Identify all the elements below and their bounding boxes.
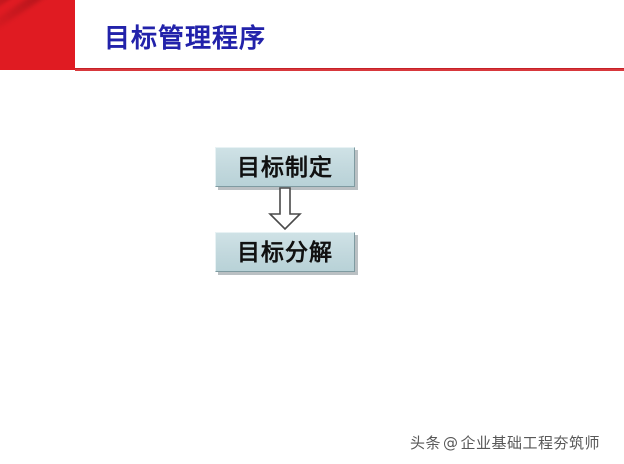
flow-node-label: 目标制定 <box>237 156 333 179</box>
watermark-prefix: 头条 <box>410 434 441 452</box>
flow-connector-area <box>215 187 365 232</box>
header-accent-block <box>0 0 75 70</box>
flow-node-label: 目标分解 <box>237 241 333 264</box>
flow-node-target-setting[interactable]: 目标制定 <box>215 147 355 187</box>
slide-canvas: 目标管理程序 目标制定 目标分解 头条@企业基础工程夯筑师 <box>0 0 624 464</box>
header-divider <box>75 68 624 71</box>
arrow-down-icon <box>263 187 307 231</box>
page-title: 目标管理程序 <box>104 18 266 55</box>
watermark-account: 企业基础工程夯筑师 <box>461 434 601 452</box>
flowchart: 目标制定 目标分解 <box>215 147 365 272</box>
flow-node-target-breakdown[interactable]: 目标分解 <box>215 232 355 272</box>
footer-watermark: 头条@企业基础工程夯筑师 <box>410 432 600 453</box>
watermark-at-symbol: @ <box>443 434 459 452</box>
diagonal-swoosh-secondary-icon <box>0 0 75 37</box>
